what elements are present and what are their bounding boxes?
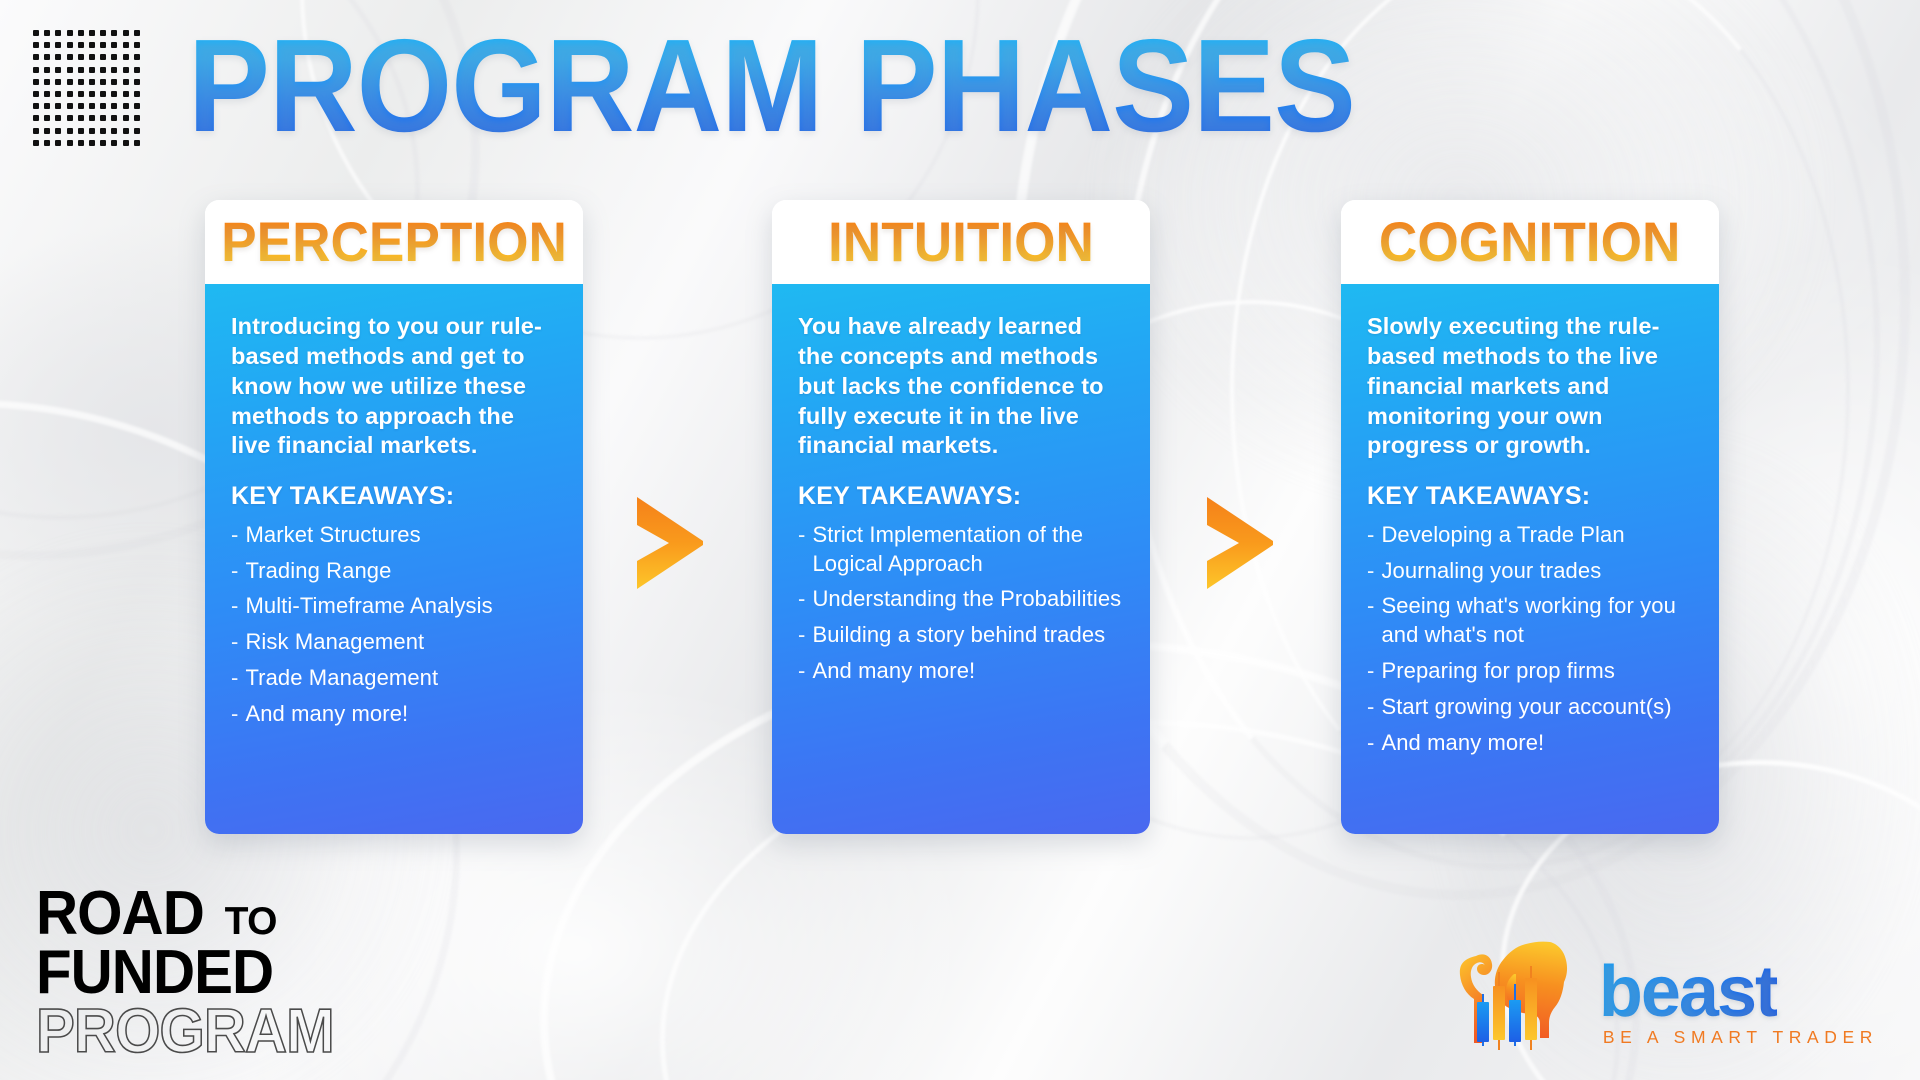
phase-card-header: COGNITION (1341, 200, 1719, 284)
list-item-label: Building a story behind trades (812, 621, 1124, 650)
logo-word-funded: FUNDED (36, 944, 334, 1001)
list-item-label: Understanding the Probabilities (812, 585, 1124, 614)
phase-intro-text: Slowly executing the rule-based methods … (1367, 312, 1693, 461)
list-item-label: Strict Implementation of the Logical App… (812, 521, 1124, 579)
key-takeaways-label: KEY TAKEAWAYS: (798, 482, 1124, 511)
bullet-dash: - (798, 521, 805, 579)
bullet-dash: - (1367, 657, 1374, 686)
logo-word-program: PROGRAM (36, 1003, 334, 1060)
phase-intro-text: Introducing to you our rule-based method… (231, 312, 557, 461)
phase-card-body: Introducing to you our rule-based method… (205, 284, 583, 834)
list-item: -And many more! (1367, 725, 1693, 761)
bullet-dash: - (1367, 557, 1374, 586)
list-item: -Start growing your account(s) (1367, 689, 1693, 725)
beast-tagline: BE A SMART TRADER (1603, 1027, 1878, 1048)
chevron-right-icon (633, 495, 707, 591)
logo-line-1: ROAD TO (36, 885, 353, 942)
key-takeaways-list: -Strict Implementation of the Logical Ap… (798, 517, 1124, 689)
road-to-funded-logo: ROAD TO FUNDED PROGRAM (36, 885, 353, 1060)
list-item-label: Risk Management (245, 628, 557, 657)
bullet-dash: - (231, 664, 238, 693)
phase-card-header: PERCEPTION (205, 200, 583, 284)
key-takeaways-label: KEY TAKEAWAYS: (231, 482, 557, 511)
list-item: -And many more! (798, 653, 1124, 689)
list-item-label: And many more! (245, 700, 557, 729)
logo-word-to: TO (225, 904, 277, 940)
list-item-label: Multi-Timeframe Analysis (245, 592, 557, 621)
bullet-dash: - (231, 700, 238, 729)
list-item: -Strict Implementation of the Logical Ap… (798, 517, 1124, 582)
list-item-label: And many more! (1381, 729, 1693, 758)
phase-card-cognition[interactable]: COGNITION Slowly executing the rule-base… (1341, 200, 1719, 834)
key-takeaways-label: KEY TAKEAWAYS: (1367, 482, 1693, 511)
list-item-label: Trading Range (245, 557, 557, 586)
list-item-label: Start growing your account(s) (1381, 693, 1693, 722)
beast-brand-logo: beast BE A SMART TRADER (1454, 936, 1878, 1052)
list-item: -Multi-Timeframe Analysis (231, 589, 557, 625)
key-takeaways-list: -Developing a Trade Plan -Journaling you… (1367, 517, 1693, 761)
phase-card-header: INTUITION (772, 200, 1150, 284)
lion-candlestick-icon (1454, 936, 1589, 1052)
list-item: -Trade Management (231, 660, 557, 696)
phase-card-body: You have already learned the concepts an… (772, 284, 1150, 834)
page-title: PROGRAM PHASES (188, 20, 1355, 152)
list-item: -Risk Management (231, 625, 557, 661)
phase-title: COGNITION (1379, 214, 1680, 270)
list-item-label: Trade Management (245, 664, 557, 693)
chevron-right-icon (1203, 495, 1277, 591)
bullet-dash: - (1367, 592, 1374, 650)
logo-word-road: ROAD (36, 885, 204, 942)
list-item: -Building a story behind trades (798, 618, 1124, 654)
bullet-dash: - (231, 592, 238, 621)
list-item: -Preparing for prop firms (1367, 653, 1693, 689)
phase-card-intuition[interactable]: INTUITION You have already learned the c… (772, 200, 1150, 834)
list-item: -Understanding the Probabilities (798, 582, 1124, 618)
infographic-canvas: PROGRAM PHASES PERCEPTION Introducing to… (0, 0, 1920, 1080)
list-item-label: Seeing what's working for you and what's… (1381, 592, 1693, 650)
list-item: -Seeing what's working for you and what'… (1367, 589, 1693, 654)
beast-wordmark-group: beast BE A SMART TRADER (1599, 959, 1878, 1048)
bullet-dash: - (1367, 729, 1374, 758)
bullet-dash: - (798, 657, 805, 686)
beast-wordmark: beast (1599, 959, 1777, 1025)
list-item: -Developing a Trade Plan (1367, 517, 1693, 553)
list-item-label: Preparing for prop firms (1381, 657, 1693, 686)
bullet-dash: - (231, 628, 238, 657)
list-item-label: And many more! (812, 657, 1124, 686)
bullet-dash: - (798, 585, 805, 614)
bullet-dash: - (1367, 693, 1374, 722)
bullet-dash: - (1367, 521, 1374, 550)
list-item-label: Journaling your trades (1381, 557, 1693, 586)
bullet-dash: - (231, 557, 238, 586)
phase-intro-text: You have already learned the concepts an… (798, 312, 1124, 461)
dot-grid-icon (33, 30, 145, 152)
list-item: -And many more! (231, 696, 557, 732)
phase-title: INTUITION (828, 214, 1094, 270)
phase-card-body: Slowly executing the rule-based methods … (1341, 284, 1719, 834)
list-item-label: Developing a Trade Plan (1381, 521, 1693, 550)
bullet-dash: - (798, 621, 805, 650)
phase-card-perception[interactable]: PERCEPTION Introducing to you our rule-b… (205, 200, 583, 834)
bullet-dash: - (231, 521, 238, 550)
list-item: -Journaling your trades (1367, 553, 1693, 589)
list-item-label: Market Structures (245, 521, 557, 550)
key-takeaways-list: -Market Structures -Trading Range -Multi… (231, 517, 557, 732)
list-item: -Trading Range (231, 553, 557, 589)
list-item: -Market Structures (231, 517, 557, 553)
phase-title: PERCEPTION (221, 214, 567, 270)
